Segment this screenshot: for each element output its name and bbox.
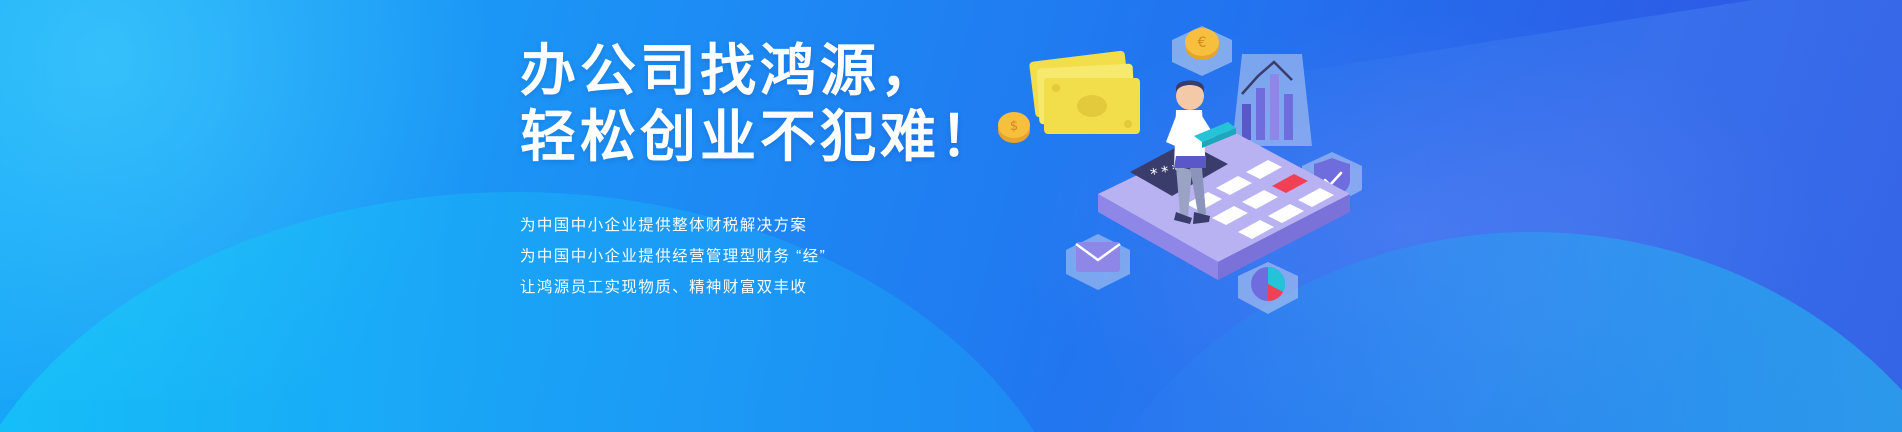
banner-copy: 办公司找鸿源， 轻松创业不犯难！ 为中国中小企业提供整体财税解决方案 为中国中小… [520, 40, 1040, 303]
euro-coin-icon: € [1172, 26, 1232, 76]
promo-banner: 办公司找鸿源， 轻松创业不犯难！ 为中国中小企业提供整体财税解决方案 为中国中小… [0, 0, 1902, 432]
subtitle-list: 为中国中小企业提供整体财税解决方案 为中国中小企业提供经营管理型财务 “经” 让… [520, 210, 1040, 303]
pie-chart-icon [1238, 262, 1298, 314]
svg-text:€: € [1198, 35, 1207, 51]
headline-line-2: 轻松创业不犯难！ [520, 106, 1040, 168]
envelope-icon [1066, 234, 1130, 290]
finance-calculator-illustration: $ € [980, 18, 1410, 318]
subtitle-line-2: 为中国中小企业提供经营管理型财务 “经” [520, 241, 1040, 272]
bar-chart-icon [1232, 54, 1312, 146]
headline-line-1: 办公司找鸿源， [520, 40, 1040, 102]
subtitle-line-3: 让鸿源员工实现物质、精神财富双丰收 [520, 272, 1040, 303]
svg-text:$: $ [1010, 119, 1018, 134]
cash-stack-icon [1029, 50, 1140, 134]
gold-coin-icon: $ [998, 112, 1030, 143]
subtitle-line-1: 为中国中小企业提供整体财税解决方案 [520, 210, 1040, 241]
calculator-device: ***** [1098, 130, 1350, 280]
